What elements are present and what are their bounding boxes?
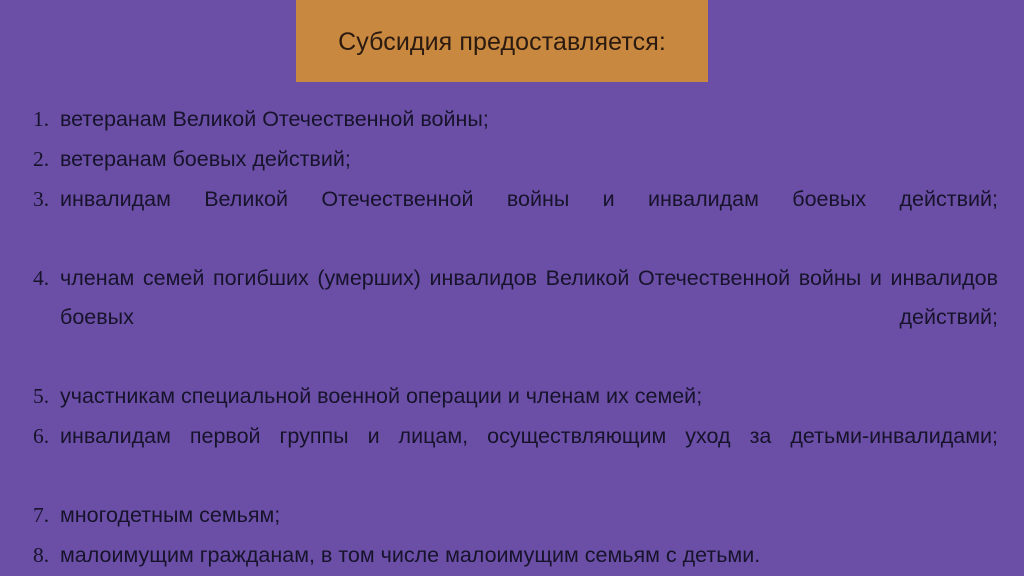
presentation-slide: Субсидия предоставляется: 1. ветеранам В… <box>0 0 1024 576</box>
list-item-number: 5. <box>30 377 60 416</box>
beneficiary-list: 1. ветеранам Великой Отечественной войны… <box>30 100 1000 576</box>
list-item-number: 4. <box>30 259 60 298</box>
list-item-number: 6. <box>30 417 60 456</box>
list-item: 8. малоимущим гражданам, в том числе мал… <box>30 536 1000 575</box>
list-item-number: 8. <box>30 536 60 575</box>
list-item: 4. членам семей погибших (умерших) инвал… <box>30 259 1000 376</box>
list-item-text: инвалидам первой группы и лицам, осущест… <box>60 417 1000 495</box>
list-item-number: 1. <box>30 100 60 139</box>
list-item: 6. инвалидам первой группы и лицам, осущ… <box>30 417 1000 495</box>
list-item: 5. участникам специальной военной операц… <box>30 377 1000 416</box>
list-item-number: 3. <box>30 180 60 219</box>
list-item-text: инвалидам Великой Отечественной войны и … <box>60 180 1000 258</box>
title-banner: Субсидия предоставляется: <box>296 0 708 82</box>
page-title: Субсидия предоставляется: <box>338 22 666 57</box>
list-item-text: малоимущим гражданам, в том числе малоим… <box>60 536 1000 575</box>
list-item: 3. инвалидам Великой Отечественной войны… <box>30 180 1000 258</box>
list-item: 2. ветеранам боевых действий; <box>30 140 1000 179</box>
list-item-number: 2. <box>30 140 60 179</box>
list-item: 1. ветеранам Великой Отечественной войны… <box>30 100 1000 139</box>
list-item-text: многодетным семьям; <box>60 496 1000 535</box>
list-item: 7. многодетным семьям; <box>30 496 1000 535</box>
list-item-number: 7. <box>30 496 60 535</box>
list-item-text: участникам специальной военной операции … <box>60 377 1000 416</box>
list-item-text: ветеранам Великой Отечественной войны; <box>60 100 1000 139</box>
list-item-text: членам семей погибших (умерших) инвалидо… <box>60 259 1000 376</box>
list-item-text: ветеранам боевых действий; <box>60 140 1000 179</box>
